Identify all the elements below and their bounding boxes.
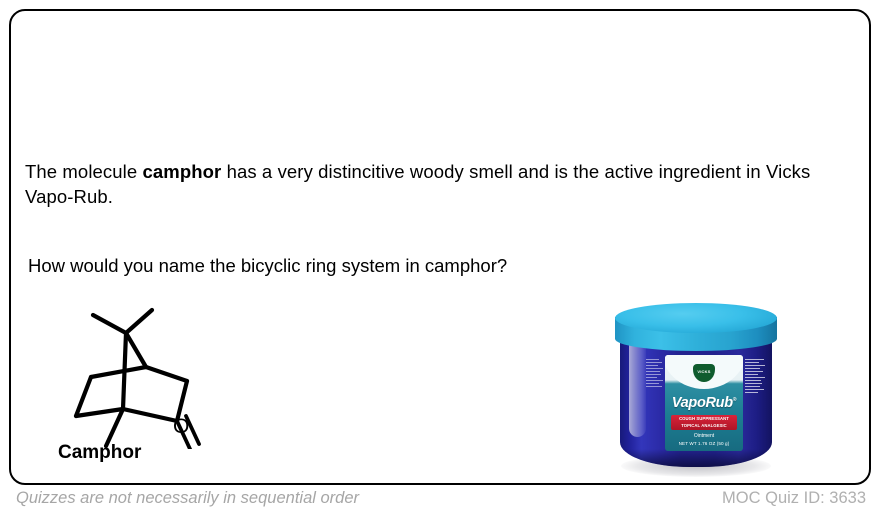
camphor-structure-icon [51,299,281,449]
molecule-caption: Camphor [58,442,141,464]
product-form-label: Ointment [665,433,743,439]
prompt-text: The molecule camphor has a very distinci… [25,159,861,209]
claim-line-1: COUGH SUPPRESSANT [671,415,737,422]
jar-cap-top [615,303,777,333]
net-weight-label: NET WT 1.76 OZ (50 g) [665,441,743,446]
vaporub-wordmark-text: VapoRub [672,395,733,411]
jar-side-panel-right [744,359,766,451]
footer-quiz-id: MOC Quiz ID: 3633 [722,489,866,508]
quiz-card: The molecule camphor has a very distinci… [9,9,871,485]
prompt-block: The molecule camphor has a very distinci… [25,159,861,209]
jar-cap [615,303,777,353]
vicks-brand-text: VICKS [693,369,715,374]
claim-line-2: TOPICAL ANALGESIC [671,422,737,429]
vaporub-wordmark: VapoRub® [665,395,743,411]
molecule-figure: O Camphor [51,299,281,484]
question-text: How would you name the bicyclic ring sys… [28,253,728,278]
jar-front-label: VICKS VapoRub® COUGH SUPPRESSANT TOPICAL… [665,355,743,451]
footer-note: Quizzes are not necessarily in sequentia… [16,489,359,508]
vaporub-jar-image: VICKS VapoRub® COUGH SUPPRESSANT TOPICAL… [607,303,787,488]
oxygen-atom-label: O [173,415,189,439]
jar-claim-banner: COUGH SUPPRESSANT TOPICAL ANALGESIC [671,415,737,430]
jar-side-panel-left [645,359,664,451]
registered-mark: ® [733,397,736,403]
prompt-bold-term: camphor [143,161,222,182]
jar-bottom-rim [620,449,772,467]
quiz-slide: The molecule camphor has a very distinci… [0,0,884,518]
prompt-segment-1: The molecule [25,161,143,182]
